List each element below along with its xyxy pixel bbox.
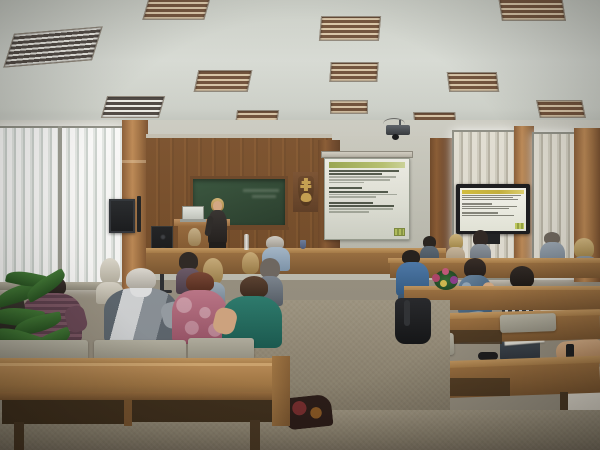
patterned-handbag[interactable] <box>284 394 333 431</box>
slide-lead-line <box>329 202 373 204</box>
bench-leg <box>250 420 260 450</box>
attendee-grey-polo <box>104 268 180 342</box>
double-cross-lower-bar <box>300 185 311 188</box>
projector-lens-icon <box>392 134 399 140</box>
ceiling-light-fixture <box>536 100 586 118</box>
attendee-teal-top <box>222 276 284 346</box>
chalk-mark <box>252 195 276 198</box>
flower-arrangement <box>428 262 462 290</box>
side-display-text-line <box>462 215 515 216</box>
slide-block <box>329 202 405 213</box>
attendee-hair <box>574 238 594 258</box>
attendee-hair <box>510 266 534 288</box>
attendee-hair <box>126 268 156 290</box>
presenter-laptop-screen[interactable] <box>182 206 204 220</box>
ceiling-light-fixture <box>329 62 378 82</box>
slide-lead-line <box>329 205 394 207</box>
side-display-text-line <box>462 206 517 207</box>
emblem-shield <box>298 176 314 206</box>
bench-seat-back <box>188 338 254 360</box>
foreground-desk-shelf-right <box>132 398 272 422</box>
black-backpack[interactable] <box>395 298 431 344</box>
ceiling-projector <box>386 125 410 135</box>
attendee-hair <box>260 258 280 278</box>
foreground-desk-apron <box>0 392 286 400</box>
slide-text-line <box>329 182 364 184</box>
slide-text-line <box>329 208 393 210</box>
side-flatpanel-display[interactable] <box>456 184 530 234</box>
side-display-text-line <box>462 212 498 213</box>
ceiling-light-fixture <box>498 0 566 21</box>
speaker-tweeter-icon <box>160 234 166 240</box>
lecture-hall-photo <box>0 0 600 450</box>
slide-text-line <box>329 176 396 178</box>
foreground-desk-edge <box>0 363 286 366</box>
slide-text-line <box>329 196 376 198</box>
water-bottle <box>244 234 249 250</box>
ceiling-light-fixture <box>330 100 368 114</box>
slide-block <box>329 187 405 198</box>
front-wall-upper-edge <box>146 134 332 138</box>
presenter-laptop-base <box>180 219 206 222</box>
flower-bloom <box>442 268 449 275</box>
side-display-text-line <box>462 203 492 204</box>
bench-seat-back <box>500 313 557 333</box>
slide-lead-line <box>329 170 399 172</box>
side-display-header-bar <box>462 190 525 194</box>
slide-header-bar <box>329 162 405 168</box>
conference-logo-icon <box>394 228 405 236</box>
ceiling-light-fixture <box>142 0 211 20</box>
projection-screen <box>324 158 410 240</box>
slide-text-line <box>329 211 369 213</box>
flower-bloom <box>450 276 458 284</box>
suspended-grid-ceiling <box>0 0 600 135</box>
side-display-text-line <box>462 199 518 200</box>
left-wall-monitor[interactable] <box>109 199 135 233</box>
foreground-desk-divider <box>124 396 132 426</box>
emblem-three-hills <box>301 193 312 202</box>
slide-lead-line <box>329 173 382 175</box>
projection-screen-housing <box>321 151 413 158</box>
slide-block <box>329 170 405 183</box>
left-window-mullion <box>58 126 62 288</box>
foreground-desk-right-end <box>272 356 290 426</box>
side-display-text-line <box>462 195 521 196</box>
slide-text-line <box>329 194 397 196</box>
flower-bloom <box>440 280 447 287</box>
chalk-mark <box>243 189 280 192</box>
ceiling-light-fixture <box>194 70 253 92</box>
column-switch-plate <box>137 196 141 232</box>
side-display-text-line <box>462 197 513 198</box>
attendee-hair <box>240 276 268 298</box>
column-trim <box>122 160 148 163</box>
side-display-screen <box>460 188 527 231</box>
foreground-desk-shelf-left <box>2 398 124 424</box>
attendee-hair <box>186 272 214 292</box>
ceiling-light-fixture <box>447 72 499 92</box>
slide-text-line <box>329 179 390 181</box>
slide-lead-line <box>329 187 362 189</box>
ceiling-light-fixture <box>3 26 102 67</box>
ceiling-light-fixture <box>319 16 381 41</box>
backpack-strap <box>404 300 410 326</box>
slide-lead-line <box>329 191 388 193</box>
attendee-hair <box>188 228 201 246</box>
double-cross-upper-bar <box>302 181 311 184</box>
ceiling-light-fixture <box>101 96 165 118</box>
desk-cup <box>300 240 306 249</box>
side-display-text-line <box>462 208 510 209</box>
flower-bloom <box>432 274 440 282</box>
bench-leg <box>14 422 24 450</box>
slovak-coat-of-arms <box>293 172 319 212</box>
conference-logo-icon <box>515 223 524 229</box>
projector-cable <box>383 118 405 124</box>
